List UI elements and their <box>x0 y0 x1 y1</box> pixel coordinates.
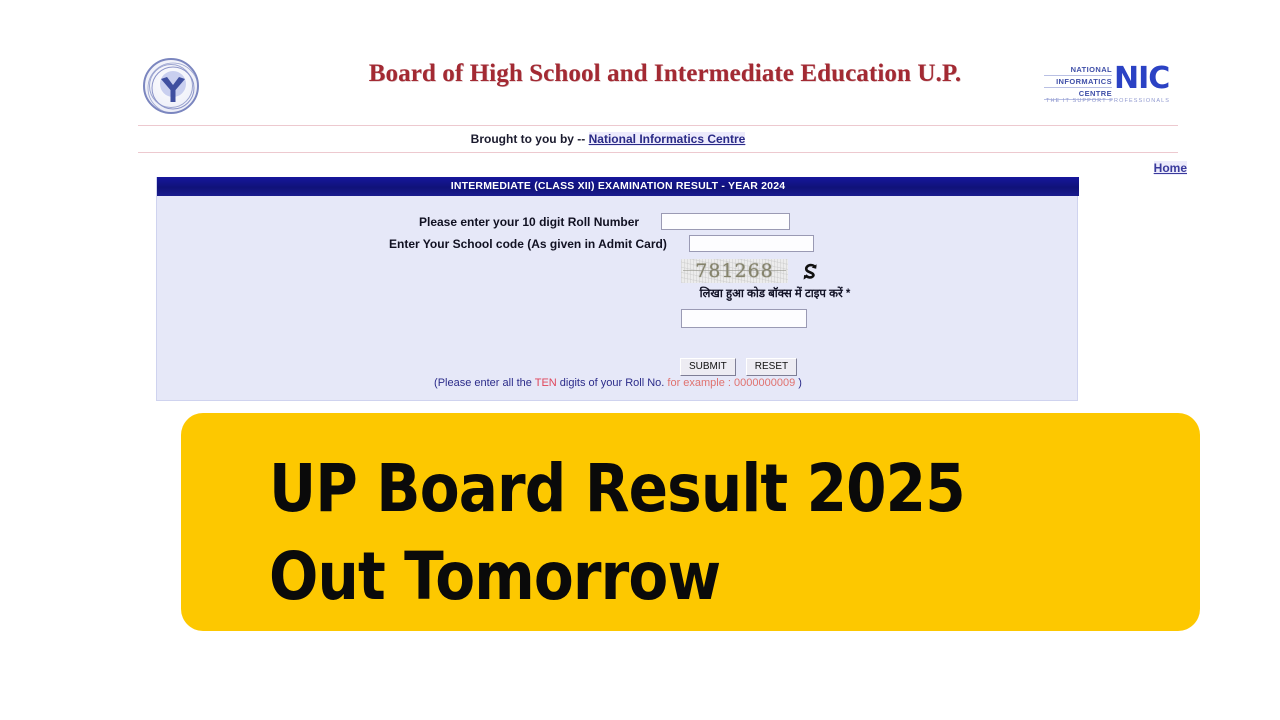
note-ten-emphasis: TEN <box>535 377 557 389</box>
captcha-block: 781268 लिखा हुआ कोड बॉक्स में टाइप करें … <box>681 259 881 315</box>
exam-title-bar: INTERMEDIATE (CLASS XII) EXAMINATION RES… <box>157 177 1079 196</box>
nic-logo: NATIONAL INFORMATICS CENTRE NIC THE IT S… <box>1044 62 1172 110</box>
brought-to-you-by: Brought to you by -- National Informatic… <box>138 132 1078 146</box>
header-divider-top <box>138 125 1178 126</box>
note-part-2: digits of your Roll No. <box>557 377 668 389</box>
refresh-icon[interactable] <box>799 261 821 283</box>
refresh-icon-glyph <box>799 261 821 283</box>
roll-number-note: (Please enter all the TEN digits of your… <box>157 377 1079 389</box>
captcha-hint-text: लिखा हुआ कोड बॉक्स में टाइप करें * <box>675 286 875 301</box>
note-part-1: (Please enter all the <box>434 377 535 389</box>
roll-number-row: Please enter your 10 digit Roll Number <box>419 213 790 230</box>
roll-number-input[interactable] <box>661 213 790 230</box>
home-link[interactable]: Home <box>1154 161 1187 175</box>
captcha-input[interactable] <box>681 309 807 328</box>
roll-number-label: Please enter your 10 digit Roll Number <box>419 215 639 229</box>
promo-headline-line-2: Out Tomorrow <box>269 533 1061 621</box>
submit-button[interactable]: SUBMIT <box>680 358 736 376</box>
nic-tagline: THE IT SUPPORT PROFESSIONALS <box>1046 98 1170 104</box>
national-informatics-centre-link[interactable]: National Informatics Centre <box>589 132 746 146</box>
nic-acronym: NIC <box>1114 62 1169 96</box>
emblem-artwork <box>145 60 199 114</box>
captcha-image: 781268 <box>681 259 788 283</box>
promo-headline-line-1: UP Board Result 2025 <box>269 445 1061 533</box>
school-code-input[interactable] <box>689 235 814 252</box>
result-form-panel: INTERMEDIATE (CLASS XII) EXAMINATION RES… <box>156 177 1078 401</box>
up-board-emblem-icon <box>143 58 199 114</box>
brought-by-prefix: Brought to you by -- <box>471 132 589 146</box>
promo-headline: UP Board Result 2025 Out Tomorrow <box>269 445 1061 621</box>
header-divider-bottom <box>138 152 1178 153</box>
school-code-row: Enter Your School code (As given in Admi… <box>389 235 814 252</box>
nic-logo-words: NATIONAL INFORMATICS CENTRE <box>1044 64 1112 100</box>
reset-button[interactable]: RESET <box>746 358 797 376</box>
page-root: Board of High School and Intermediate Ed… <box>0 0 1280 720</box>
site-header: Board of High School and Intermediate Ed… <box>135 48 1180 120</box>
page-title: Board of High School and Intermediate Ed… <box>295 60 1035 88</box>
nic-word-national: NATIONAL <box>1044 64 1112 76</box>
form-button-row: SUBMIT RESET <box>680 358 797 376</box>
school-code-label: Enter Your School code (As given in Admi… <box>389 237 667 251</box>
note-part-3: ) <box>795 377 802 389</box>
captcha-strike-line <box>683 270 786 271</box>
note-example: for example : 0000000009 <box>667 377 795 389</box>
captcha-code-text: 781268 <box>681 259 788 283</box>
promo-banner: UP Board Result 2025 Out Tomorrow <box>181 413 1200 631</box>
nic-word-informatics: INFORMATICS <box>1044 76 1112 88</box>
